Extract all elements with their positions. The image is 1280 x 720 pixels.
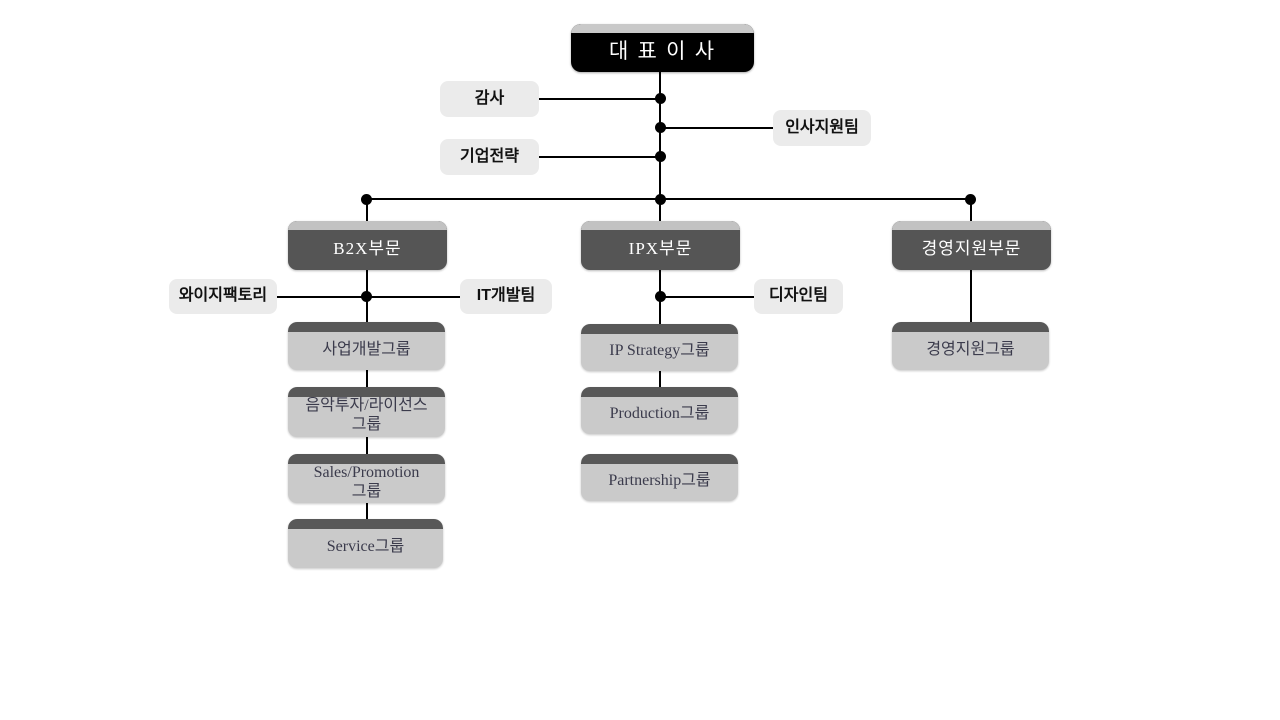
node-audit[interactable]: 감사 [440, 81, 539, 117]
connector-music-sales [366, 437, 368, 454]
node-design-label: 디자인팀 [769, 287, 828, 306]
node-salespromo-label: Sales/Promotion 그룹 [314, 456, 420, 502]
node-ipx-label: IPX부문 [629, 232, 693, 259]
node-yg-factory[interactable]: 와이지팩토리 [169, 279, 277, 314]
node-cap [581, 387, 738, 397]
junction-dot-b2x-teams [361, 291, 372, 302]
connector-ceo-hr [660, 127, 774, 129]
node-itdev-label: IT개발팀 [477, 287, 535, 306]
junction-dot-ceo-backbone [655, 194, 666, 205]
junction-dot-hr [655, 122, 666, 133]
node-ceo[interactable]: 대 표 이 사 [571, 24, 754, 72]
junction-dot-ipx-teams [655, 291, 666, 302]
connector-ipx-design [659, 296, 755, 298]
node-ceo-label: 대 표 이 사 [609, 32, 716, 64]
connector-mgmt-stem [970, 270, 972, 323]
connector-ceo-audit [538, 98, 661, 100]
node-cap [892, 322, 1049, 332]
node-mgmtgroup-label: 경영지원그룹 [926, 333, 1014, 360]
connector-sales-service [366, 503, 368, 519]
node-hr-support-team[interactable]: 인사지원팀 [773, 110, 871, 146]
node-corporate-strategy[interactable]: 기업전략 [440, 139, 539, 175]
node-sales-promotion-group[interactable]: Sales/Promotion 그룹 [288, 454, 445, 503]
node-ygfactory-label: 와이지팩토리 [179, 287, 267, 306]
connector-bizdev-music [366, 370, 368, 387]
connector-b2x-itdev [366, 296, 461, 298]
node-design-team[interactable]: 디자인팀 [754, 279, 843, 314]
connector-ceo-strategy [538, 156, 661, 158]
connector-ceo-trunk [659, 72, 661, 201]
node-cap [581, 454, 738, 464]
node-bizdev-label: 사업개발그룹 [322, 333, 410, 360]
connector-ipstrategy-production [659, 371, 661, 387]
node-production-label: Production그룹 [610, 397, 710, 424]
junction-dot-b2x [361, 194, 372, 205]
node-cap [581, 324, 738, 334]
org-chart-canvas: 대 표 이 사 감사 인사지원팀 기업전략 B2X부문 IPX부문 경영지원부문… [0, 0, 1280, 720]
node-partnership-group[interactable]: Partnership그룹 [581, 454, 738, 501]
node-cap [892, 221, 1051, 230]
node-ip-strategy-group[interactable]: IP Strategy그룹 [581, 324, 738, 371]
node-business-development-group[interactable]: 사업개발그룹 [288, 322, 445, 370]
node-service-label: Service그룹 [327, 530, 404, 557]
node-hr-label: 인사지원팀 [785, 119, 859, 138]
node-cap [288, 322, 445, 332]
node-cap [288, 221, 447, 230]
node-music-label: 음악투자/라이선스 그룹 [305, 389, 427, 435]
node-ipstrategy-label: IP Strategy그룹 [609, 334, 709, 361]
junction-dot-audit [655, 93, 666, 104]
node-b2x-division[interactable]: B2X부문 [288, 221, 447, 270]
node-mgmt-label: 경영지원부문 [922, 232, 1022, 259]
node-it-development-team[interactable]: IT개발팀 [460, 279, 552, 314]
node-production-group[interactable]: Production그룹 [581, 387, 738, 434]
node-cap [288, 519, 443, 529]
node-partnership-label: Partnership그룹 [608, 464, 710, 491]
connector-b2x-ygfactory [277, 296, 367, 298]
node-management-support-group[interactable]: 경영지원그룹 [892, 322, 1049, 370]
connector-division-backbone [365, 198, 973, 200]
node-strategy-label: 기업전략 [460, 148, 519, 167]
node-management-support-division[interactable]: 경영지원부문 [892, 221, 1051, 270]
node-ipx-division[interactable]: IPX부문 [581, 221, 740, 270]
node-cap [581, 221, 740, 230]
node-service-group[interactable]: Service그룹 [288, 519, 443, 568]
node-audit-label: 감사 [475, 90, 504, 109]
node-b2x-label: B2X부문 [333, 232, 401, 259]
node-music-investment-license-group[interactable]: 음악투자/라이선스 그룹 [288, 387, 445, 437]
junction-dot-mgmt [965, 194, 976, 205]
junction-dot-strategy [655, 151, 666, 162]
